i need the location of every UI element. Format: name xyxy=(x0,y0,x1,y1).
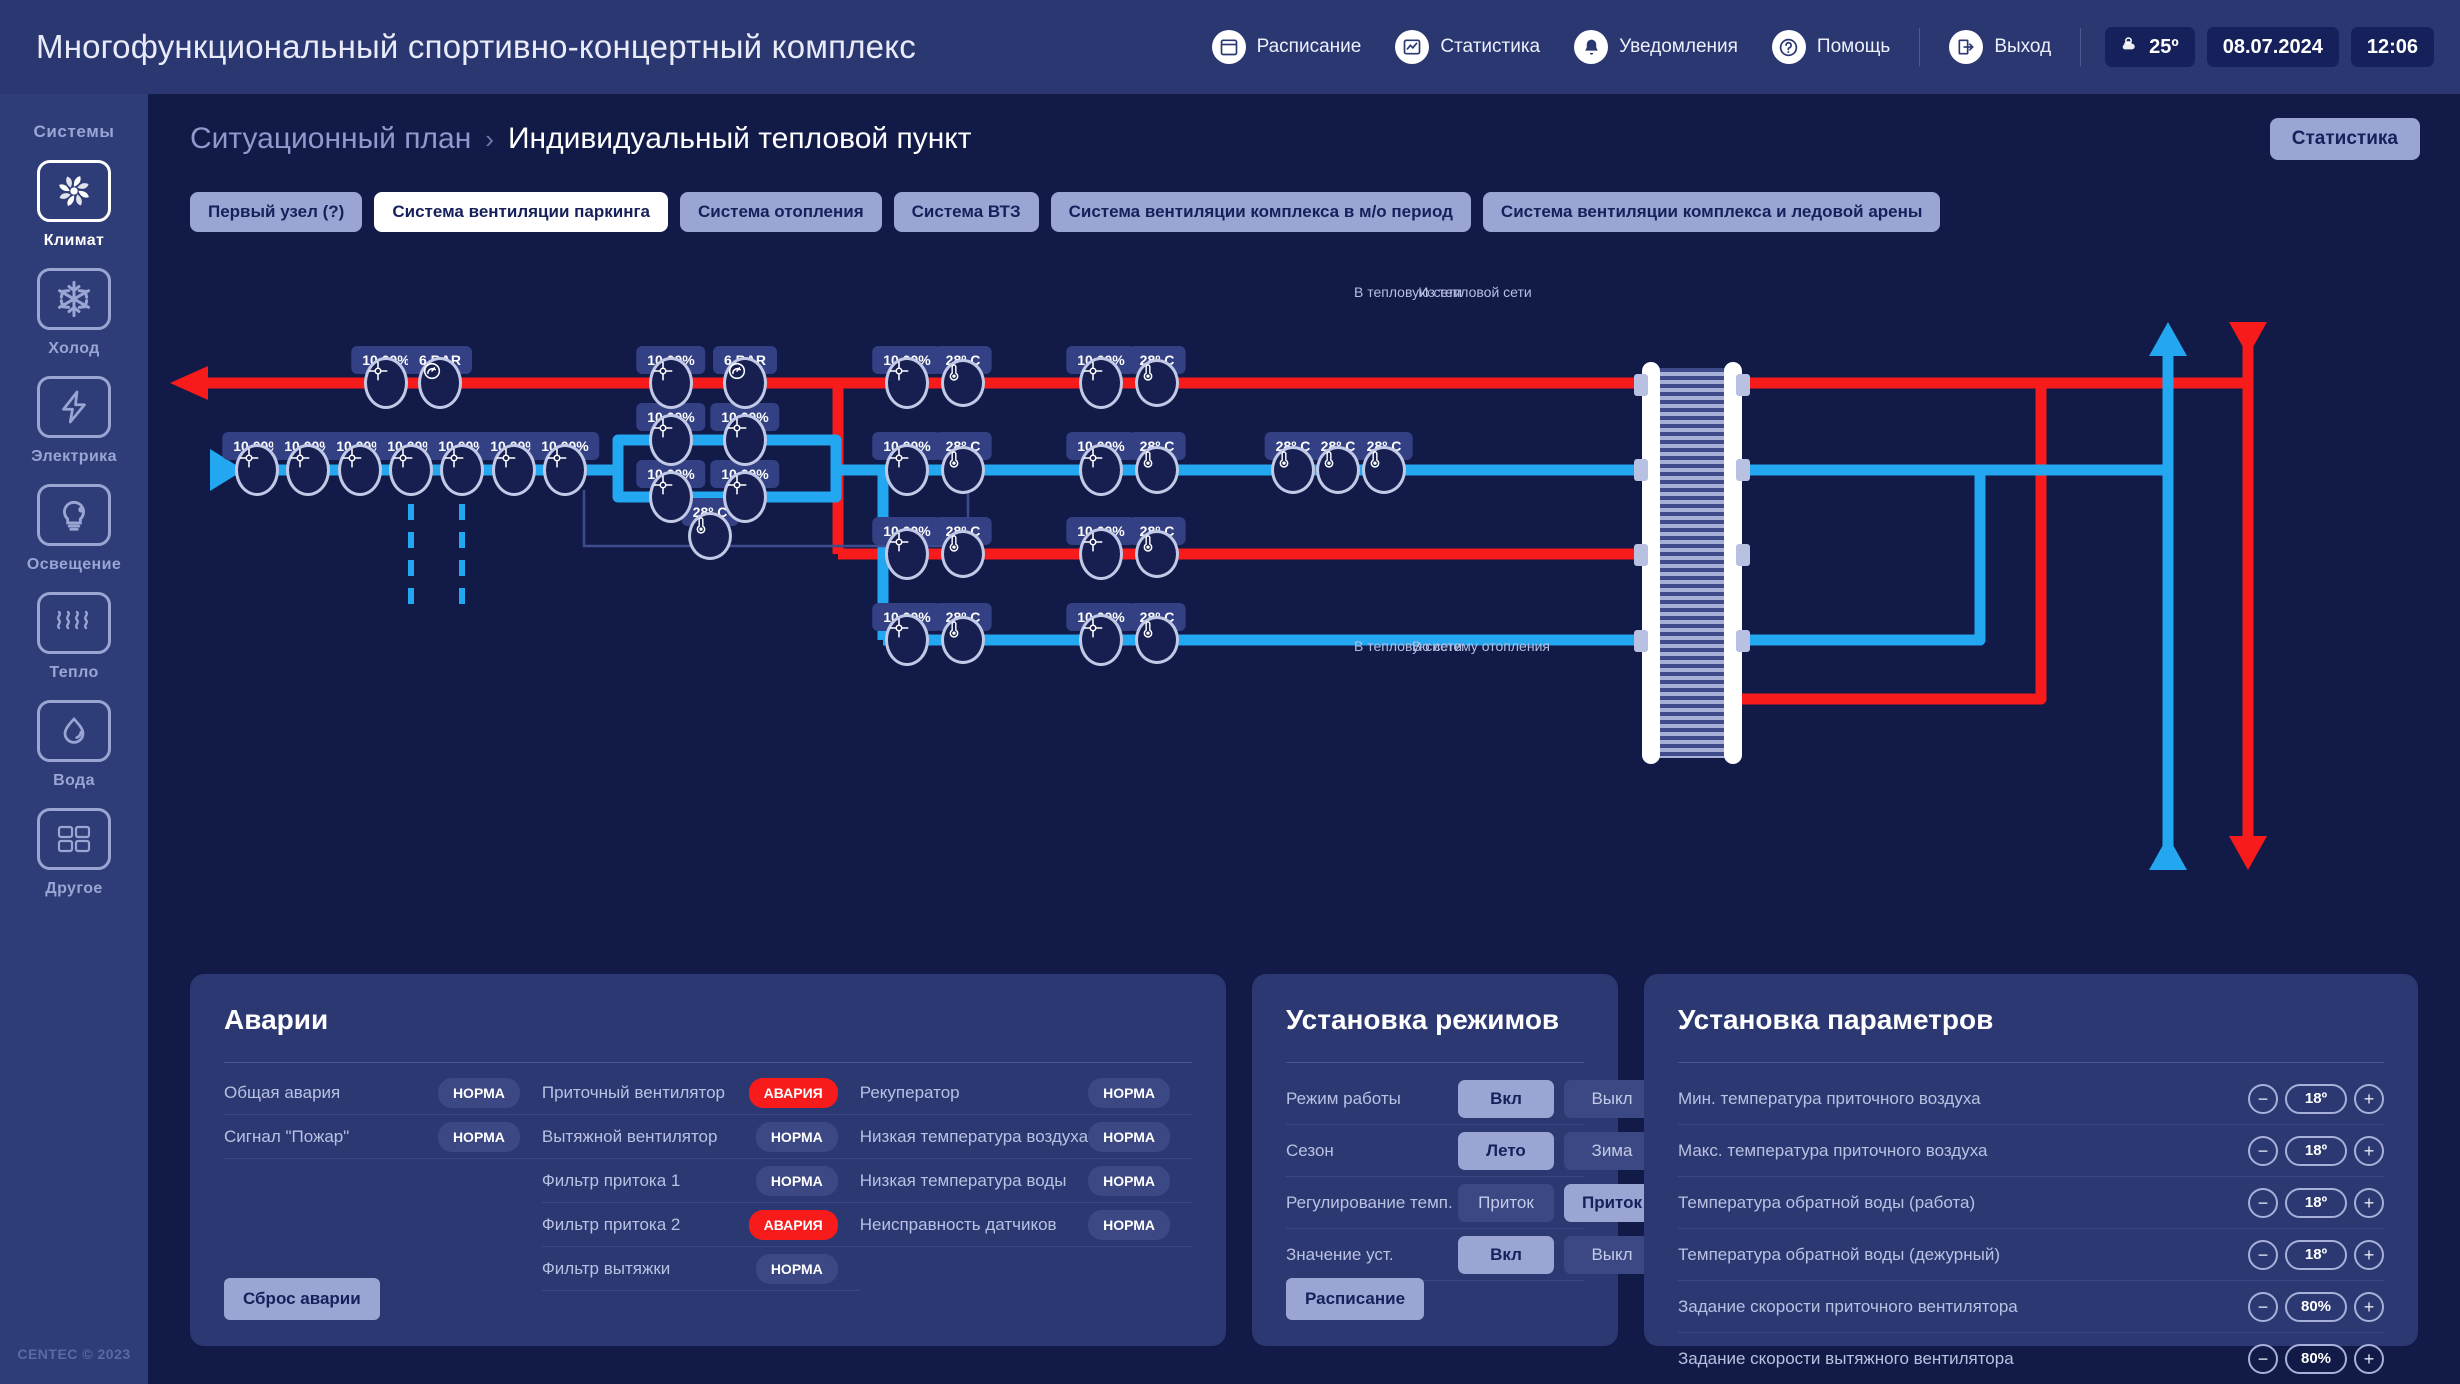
minus-button[interactable]: − xyxy=(2248,1084,2278,1114)
droplet-icon xyxy=(37,700,111,762)
alarms-column: Приточный вентиляторАВАРИЯВытяжной венти… xyxy=(542,1071,860,1291)
mode-label: Регулирование темп. xyxy=(1286,1193,1458,1213)
alarm-label: Неисправность датчиков xyxy=(860,1215,1057,1235)
alarms-column: РекуператорНОРМАНизкая температура возду… xyxy=(860,1071,1192,1291)
plus-button[interactable]: + xyxy=(2354,1188,2384,1218)
status-badge[interactable]: НОРМА xyxy=(1088,1166,1170,1196)
header-item-label: Помощь xyxy=(1817,36,1890,58)
header-item-notifications[interactable]: Уведомления xyxy=(1557,30,1755,64)
network-label: В систему отопления xyxy=(1412,638,1550,654)
param-label: Мин. температура приточного воздуха xyxy=(1678,1089,2248,1109)
alarm-row: Вытяжной вентиляторНОРМА xyxy=(542,1115,860,1159)
header-item-label: Расписание xyxy=(1257,36,1362,58)
modes-title: Установка режимов xyxy=(1286,1004,1618,1036)
thermometer-icon[interactable] xyxy=(1135,359,1179,407)
alarms-grid: Общая аварияНОРМАСигнал "Пожар"НОРМАПрит… xyxy=(224,1071,1192,1291)
modes-list: Режим работыВклВыклРасписаниеСезонЛетоЗи… xyxy=(1252,1073,1618,1281)
sidebar-item-label: Климат xyxy=(44,232,105,250)
thermometer-icon[interactable] xyxy=(941,446,985,494)
sidebar-title: Системы xyxy=(0,122,148,142)
status-badge[interactable]: НОРМА xyxy=(756,1122,838,1152)
param-row: Температура обратной воды (дежурный)−18º… xyxy=(1678,1229,2384,1281)
logout-label: Выход xyxy=(1994,36,2051,58)
minus-button[interactable]: − xyxy=(2248,1344,2278,1374)
sidebar-item-lighting[interactable]: Освещение xyxy=(0,484,148,574)
reset-alarm-button[interactable]: Сброс аварии xyxy=(224,1278,380,1320)
chevron-right-icon: › xyxy=(485,124,494,155)
alarm-row: Низкая температура водыНОРМА xyxy=(860,1159,1192,1203)
sidebar-item-cold[interactable]: Холод xyxy=(0,268,148,358)
pressure-gauge-icon[interactable] xyxy=(418,357,462,409)
plus-button[interactable]: + xyxy=(2354,1292,2384,1322)
mode-option-button[interactable]: Приток xyxy=(1458,1184,1554,1222)
status-badge[interactable]: АВАРИЯ xyxy=(749,1210,838,1240)
valve-icon[interactable] xyxy=(1079,357,1123,409)
params-panel: Установка параметров Мин. температура пр… xyxy=(1644,974,2418,1346)
valve-icon[interactable] xyxy=(235,444,279,496)
valve-icon[interactable] xyxy=(723,471,767,523)
param-label: Температура обратной воды (работа) xyxy=(1678,1193,2248,1213)
sidebar-item-label: Холод xyxy=(48,340,100,358)
plus-button[interactable]: + xyxy=(2354,1344,2384,1374)
minus-button[interactable]: − xyxy=(2248,1188,2278,1218)
sidebar-item-label: Вода xyxy=(53,772,95,790)
status-badge[interactable]: НОРМА xyxy=(1088,1078,1170,1108)
valve-icon[interactable] xyxy=(543,444,587,496)
param-value[interactable]: 18º xyxy=(2285,1188,2347,1218)
divider xyxy=(1286,1062,1584,1063)
param-value[interactable]: 18º xyxy=(2285,1240,2347,1270)
chart-icon xyxy=(1395,30,1429,64)
alarm-row: Неисправность датчиковНОРМА xyxy=(860,1203,1192,1247)
mode-row: Значение уст.ВклВыклРасписание xyxy=(1286,1229,1584,1281)
param-stepper: −18º+ xyxy=(2248,1136,2384,1166)
status-badge[interactable]: АВАРИЯ xyxy=(749,1078,838,1108)
header-item-help[interactable]: Помощь xyxy=(1755,30,1907,64)
valve-icon[interactable] xyxy=(1079,528,1123,580)
calendar-icon xyxy=(1212,30,1246,64)
status-badge[interactable]: НОРМА xyxy=(756,1166,838,1196)
logout-icon xyxy=(1949,30,1983,64)
valve-icon[interactable] xyxy=(1079,444,1123,496)
alarm-label: Сигнал "Пожар" xyxy=(224,1127,349,1147)
sidebar-item-label: Электрика xyxy=(31,448,117,466)
hvac-schematic: 10.00%6 BAR10.00%6 BAR10.00%28º C10.00%2… xyxy=(148,244,2460,964)
mode-option-button[interactable]: Вкл xyxy=(1458,1080,1554,1118)
alarm-row: Фильтр притока 1НОРМА xyxy=(542,1159,860,1203)
flow-arrow-left xyxy=(170,366,208,400)
valve-icon[interactable] xyxy=(389,444,433,496)
weather-temperature: 25º xyxy=(2149,36,2179,59)
valve-icon[interactable] xyxy=(492,444,536,496)
valve-icon[interactable] xyxy=(885,614,929,666)
alarm-row: Фильтр вытяжкиНОРМА xyxy=(542,1247,860,1291)
valve-icon[interactable] xyxy=(649,414,693,466)
minus-button[interactable]: − xyxy=(2248,1292,2278,1322)
divider xyxy=(1678,1062,2384,1063)
plus-button[interactable]: + xyxy=(2354,1240,2384,1270)
heatwave-icon xyxy=(37,592,111,654)
param-row: Макс. температура приточного воздуха−18º… xyxy=(1678,1125,2384,1177)
thermometer-icon[interactable] xyxy=(941,616,985,664)
mode-row: Регулирование темп.ПритокПритокВытяжка xyxy=(1286,1177,1584,1229)
network-label: Из тепловой сети xyxy=(1418,284,1531,300)
alarms-column: Общая аварияНОРМАСигнал "Пожар"НОРМА xyxy=(224,1071,542,1291)
alarms-panel: Аварии Общая аварияНОРМАСигнал "Пожар"НО… xyxy=(190,974,1226,1346)
thermometer-icon[interactable] xyxy=(1135,446,1179,494)
weather-icon xyxy=(2121,34,2141,60)
param-stepper: −18º+ xyxy=(2248,1084,2384,1114)
flow-arrow-up xyxy=(2149,836,2187,870)
alarm-row: Низкая температура воздухаНОРМА xyxy=(860,1115,1192,1159)
alarm-label: Фильтр притока 2 xyxy=(542,1215,680,1235)
app-title: Многофункциональный спортивно-концертный… xyxy=(36,28,916,66)
valve-icon[interactable] xyxy=(440,444,484,496)
valve-icon[interactable] xyxy=(364,357,408,409)
time-chip: 12:06 xyxy=(2351,27,2434,67)
params-title: Установка параметров xyxy=(1678,1004,2418,1036)
valve-icon[interactable] xyxy=(723,414,767,466)
param-row: Температура обратной воды (работа)−18º+ xyxy=(1678,1177,2384,1229)
param-stepper: −18º+ xyxy=(2248,1240,2384,1270)
fan-icon xyxy=(37,160,111,222)
logout-button[interactable]: Выход xyxy=(1932,30,2068,64)
tab-2[interactable]: Система отопления xyxy=(680,192,882,232)
header-item-statistics[interactable]: Статистика xyxy=(1378,30,1557,64)
sidebar-item-label: Тепло xyxy=(49,664,98,682)
thermometer-icon[interactable] xyxy=(941,359,985,407)
param-row: Задание скорости вытяжного вентилятора−8… xyxy=(1678,1333,2384,1384)
status-badge[interactable]: НОРМА xyxy=(1088,1210,1170,1240)
plus-button[interactable]: + xyxy=(2354,1084,2384,1114)
param-label: Макс. температура приточного воздуха xyxy=(1678,1141,2248,1161)
main-content: Ситуационный план › Индивидуальный тепло… xyxy=(148,94,2460,1384)
thermometer-icon[interactable] xyxy=(1362,446,1406,494)
breadcrumb-parent[interactable]: Ситуационный план xyxy=(190,122,471,156)
minus-button[interactable]: − xyxy=(2248,1240,2278,1270)
minus-button[interactable]: − xyxy=(2248,1136,2278,1166)
flow-arrow-down xyxy=(2229,836,2267,870)
tab-3[interactable]: Система ВТЗ xyxy=(894,192,1039,232)
thermometer-icon[interactable] xyxy=(941,530,985,578)
sidebar: Системы Климат xyxy=(0,94,148,1384)
alarm-row: Фильтр притока 2АВАРИЯ xyxy=(542,1203,860,1247)
mode-row: СезонЛетоЗимаАвто xyxy=(1286,1125,1584,1177)
alarm-row: РекуператорНОРМА xyxy=(860,1071,1192,1115)
valve-icon[interactable] xyxy=(338,444,382,496)
thermometer-icon[interactable] xyxy=(688,512,732,560)
param-row: Мин. температура приточного воздуха−18º+ xyxy=(1678,1073,2384,1125)
statistics-button[interactable]: Статистика xyxy=(2270,118,2420,160)
mode-option-button[interactable]: Вкл xyxy=(1458,1236,1554,1274)
alarm-label: Рекуператор xyxy=(860,1083,960,1103)
alarm-row: Сигнал "Пожар"НОРМА xyxy=(224,1115,542,1159)
alarm-label: Фильтр притока 1 xyxy=(542,1171,680,1191)
schedule-button[interactable]: Расписание xyxy=(1286,1278,1424,1320)
param-label: Задание скорости вытяжного вентилятора xyxy=(1678,1349,2248,1369)
alarm-label: Фильтр вытяжки xyxy=(542,1259,670,1279)
breadcrumb: Ситуационный план › Индивидуальный тепло… xyxy=(190,122,972,156)
sidebar-item-climate[interactable]: Климат xyxy=(0,160,148,250)
header-actions: Расписание Статистика xyxy=(1195,27,2434,67)
header-item-label: Уведомления xyxy=(1619,36,1738,58)
mode-option-button[interactable]: Лето xyxy=(1458,1132,1554,1170)
thermometer-icon[interactable] xyxy=(1135,616,1179,664)
param-label: Задание скорости приточного вентилятора xyxy=(1678,1297,2248,1317)
mode-row: Режим работыВклВыклРасписание xyxy=(1286,1073,1584,1125)
valve-icon[interactable] xyxy=(649,471,693,523)
modes-panel: Установка режимов Режим работыВклВыклРас… xyxy=(1252,974,1618,1346)
divider xyxy=(224,1062,1192,1063)
thermometer-icon[interactable] xyxy=(1316,446,1360,494)
alarm-label: Низкая температура воздуха xyxy=(860,1127,1088,1147)
param-value[interactable]: 18º xyxy=(2285,1136,2347,1166)
param-value[interactable]: 18º xyxy=(2285,1084,2347,1114)
header-divider xyxy=(1919,28,1920,66)
tab-1[interactable]: Система вентиляции паркинга xyxy=(374,192,668,232)
sidebar-item-heat[interactable]: Тепло xyxy=(0,592,148,682)
sidebar-item-label: Другое xyxy=(45,880,102,898)
valve-icon[interactable] xyxy=(1079,614,1123,666)
status-badge[interactable]: НОРМА xyxy=(438,1122,520,1152)
pressure-gauge-icon[interactable] xyxy=(723,357,767,409)
page-title: Индивидуальный тепловой пункт xyxy=(508,122,972,156)
alarm-label: Вытяжной вентилятор xyxy=(542,1127,718,1147)
mode-label: Режим работы xyxy=(1286,1089,1458,1109)
flow-arrow-up xyxy=(2149,322,2187,356)
valve-icon[interactable] xyxy=(885,357,929,409)
param-row: Задание скорости приточного вентилятора−… xyxy=(1678,1281,2384,1333)
thermometer-icon[interactable] xyxy=(1135,530,1179,578)
sidebar-item-other[interactable]: Другое xyxy=(0,808,148,898)
mode-label: Значение уст. xyxy=(1286,1245,1458,1265)
thermometer-icon[interactable] xyxy=(1271,446,1315,494)
status-badge[interactable]: НОРМА xyxy=(438,1078,520,1108)
valve-icon[interactable] xyxy=(649,357,693,409)
status-badge[interactable]: НОРМА xyxy=(756,1254,838,1284)
sidebar-footer: CENTEC © 2023 xyxy=(0,1346,148,1362)
valve-icon[interactable] xyxy=(885,444,929,496)
sidebar-item-water[interactable]: Вода xyxy=(0,700,148,790)
alarm-row: Общая аварияНОРМА xyxy=(224,1071,542,1115)
mode-label: Сезон xyxy=(1286,1141,1458,1161)
bolt-icon xyxy=(37,376,111,438)
alarm-row: Приточный вентиляторАВАРИЯ xyxy=(542,1071,860,1115)
header-item-schedule[interactable]: Расписание xyxy=(1195,30,1379,64)
bell-icon xyxy=(1574,30,1608,64)
schematic-pipes xyxy=(148,244,2460,964)
param-label: Температура обратной воды (дежурный) xyxy=(1678,1245,2248,1265)
tab-bar: Первый узел (?)Система вентиляции паркин… xyxy=(190,192,1940,232)
param-stepper: −18º+ xyxy=(2248,1188,2384,1218)
plus-button[interactable]: + xyxy=(2354,1136,2384,1166)
param-stepper: −80%+ xyxy=(2248,1292,2384,1322)
grid-icon xyxy=(37,808,111,870)
status-badge[interactable]: НОРМА xyxy=(1088,1122,1170,1152)
tab-4[interactable]: Система вентиляции комплекса в м/о перио… xyxy=(1051,192,1471,232)
param-value[interactable]: 80% xyxy=(2285,1292,2347,1322)
header-divider xyxy=(2080,28,2081,66)
valve-icon[interactable] xyxy=(286,444,330,496)
flow-arrow-down xyxy=(2229,322,2267,356)
valve-icon[interactable] xyxy=(885,528,929,580)
date-chip: 08.07.2024 xyxy=(2207,27,2339,67)
tab-0[interactable]: Первый узел (?) xyxy=(190,192,362,232)
help-icon xyxy=(1772,30,1806,64)
alarms-title: Аварии xyxy=(224,1004,1226,1036)
snowflake-icon xyxy=(37,268,111,330)
sidebar-item-electric[interactable]: Электрика xyxy=(0,376,148,466)
tab-5[interactable]: Система вентиляции комплекса и ледовой а… xyxy=(1483,192,1940,232)
header-item-label: Статистика xyxy=(1440,36,1540,58)
params-list: Мин. температура приточного воздуха−18º+… xyxy=(1644,1073,2418,1384)
param-stepper: −80%+ xyxy=(2248,1344,2384,1374)
alarm-label: Приточный вентилятор xyxy=(542,1083,725,1103)
heat-exchanger-lower xyxy=(1634,534,1750,764)
param-value[interactable]: 80% xyxy=(2285,1344,2347,1374)
weather-chip: 25º xyxy=(2105,27,2195,67)
bulb-icon xyxy=(37,484,111,546)
sidebar-item-label: Освещение xyxy=(27,556,121,574)
alarm-label: Низкая температура воды xyxy=(860,1171,1067,1191)
alarm-label: Общая авария xyxy=(224,1083,340,1103)
app-header: Многофункциональный спортивно-концертный… xyxy=(0,0,2460,94)
